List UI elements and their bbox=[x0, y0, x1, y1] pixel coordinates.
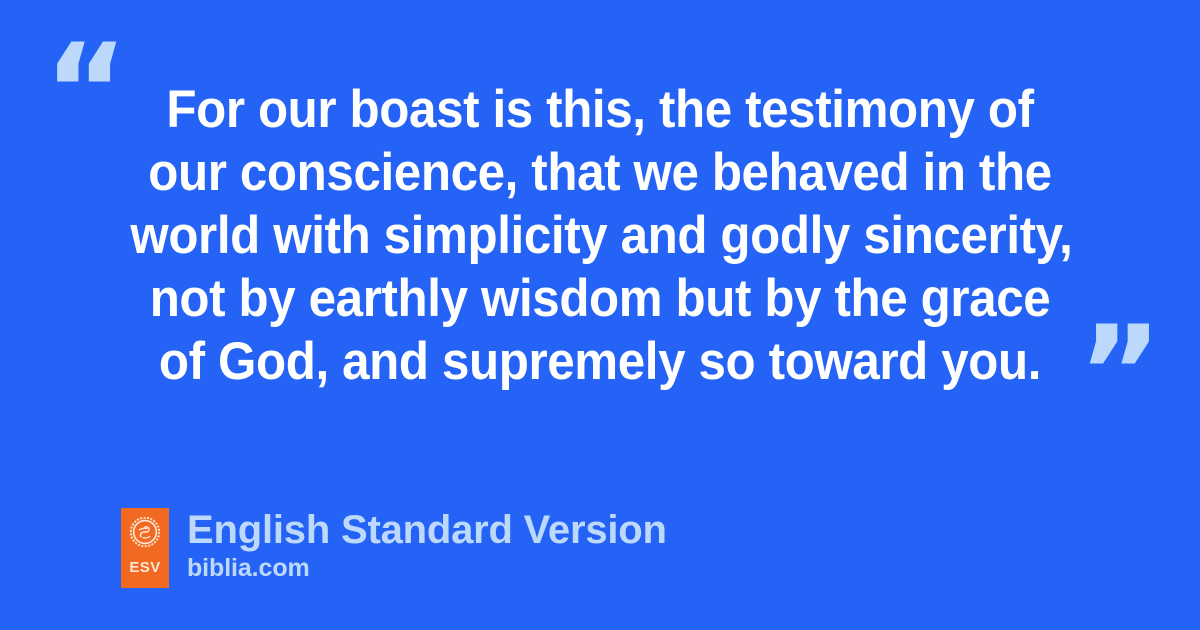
esv-abbreviation-label: ESV bbox=[129, 560, 160, 575]
verse-share-card: “ For our boast is this, the testimony o… bbox=[0, 0, 1200, 630]
verse-line: world with simplicity and godly sincerit… bbox=[130, 204, 1069, 267]
esv-seal-icon bbox=[130, 517, 160, 547]
verse-line: of God, and supremely so toward you. bbox=[130, 330, 1069, 393]
brand-text-group: English Standard Version biblia.com bbox=[187, 508, 667, 582]
esv-logo-tile: ESV bbox=[121, 508, 169, 588]
branding-footer: ESV English Standard Version biblia.com bbox=[121, 508, 667, 588]
closing-quote-icon: ” bbox=[1078, 310, 1160, 438]
verse-line: not by earthly wisdom but by the grace bbox=[130, 267, 1069, 330]
translation-title: English Standard Version bbox=[187, 508, 667, 552]
verse-line: our conscience, that we behaved in the bbox=[130, 141, 1069, 204]
verse-line: For our boast is this, the testimony of bbox=[130, 78, 1069, 141]
source-url[interactable]: biblia.com bbox=[187, 554, 667, 582]
verse-text: For our boast is this, the testimony of … bbox=[95, 78, 1105, 393]
